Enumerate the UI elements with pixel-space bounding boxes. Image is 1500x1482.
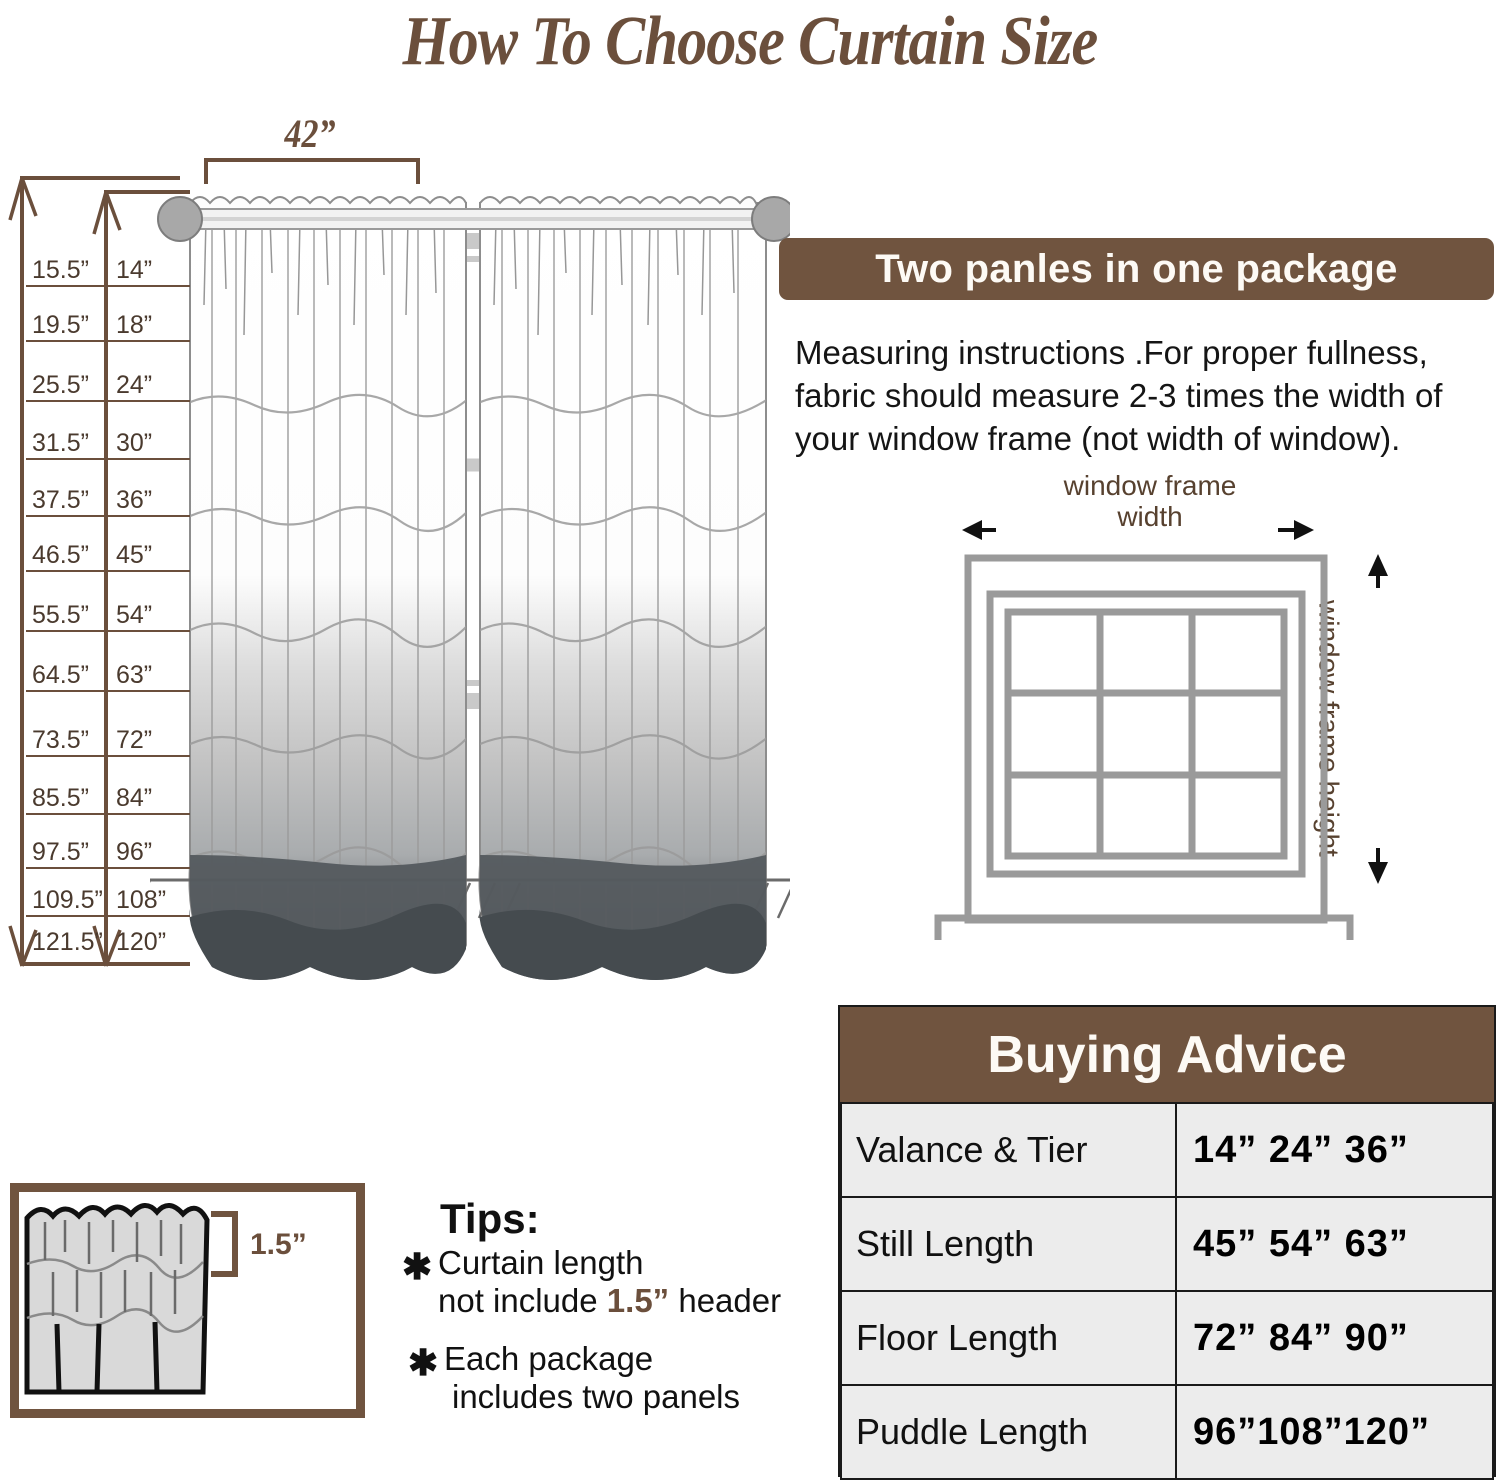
header-size-label: 1.5”: [250, 1228, 307, 1262]
width-dimension-bar: [204, 158, 420, 162]
measurement-with-header-0: 15.5”: [26, 240, 110, 287]
tip-1-line2-before: not include: [438, 1282, 607, 1319]
measurement-with-header-4: 37.5”: [26, 468, 110, 517]
asterisk-icon-2: ✱: [408, 1342, 438, 1383]
measurement-with-header-9: 85.5”: [26, 765, 110, 815]
rod-finial-left: [158, 197, 202, 241]
buying-advice-values-1: 45” 54” 63”: [1176, 1197, 1493, 1291]
measurement-with-header-6: 55.5”: [26, 580, 110, 632]
measurement-length-11: 108”: [110, 877, 190, 917]
measurement-with-header-5: 46.5”: [26, 525, 110, 572]
tip-1-line1: Curtain length: [438, 1244, 848, 1282]
buying-advice-panel: Buying Advice Valance & Tier14” 24” 36”S…: [838, 1005, 1496, 1477]
tip-item-2: ✱ Each package includes two panels: [444, 1340, 854, 1415]
page-title: How To Choose Curtain Size: [105, 2, 1395, 82]
tip-1-line2: not include 1.5” header: [438, 1282, 848, 1320]
table-row: Still Length45” 54” 63”: [841, 1197, 1493, 1291]
rod-finial-right: [752, 197, 790, 241]
measurement-length-3: 30”: [110, 410, 190, 460]
header-size-bracket: [211, 1214, 235, 1274]
measuring-instructions: Measuring instructions .For proper fulln…: [795, 332, 1500, 461]
curtain-illustration: [150, 165, 790, 995]
width-arrows: [962, 520, 1314, 540]
buying-advice-values-3: 96”108”120”: [1176, 1385, 1493, 1479]
measurement-length-4: 36”: [110, 468, 190, 517]
height-arrows: [1368, 554, 1388, 884]
asterisk-icon-1: ✱: [402, 1246, 432, 1287]
measurement-length-6: 54”: [110, 580, 190, 632]
tip-1-line2-after: header: [669, 1282, 781, 1319]
inner-dimension-arrow-up: [90, 190, 124, 236]
buying-advice-label-0: Valance & Tier: [841, 1103, 1176, 1197]
buying-advice-values-2: 72” 84” 90”: [1176, 1291, 1493, 1385]
measurement-with-header-10: 97.5”: [26, 823, 110, 869]
measurement-length-0: 14”: [110, 240, 190, 287]
curtain-width-label: 42”: [212, 110, 408, 157]
measurement-length-8: 72”: [110, 700, 190, 757]
buying-advice-table: Valance & Tier14” 24” 36”Still Length45”…: [840, 1102, 1494, 1480]
buying-advice-label-2: Floor Length: [841, 1291, 1176, 1385]
tip-2-line2: includes two panels: [444, 1378, 854, 1416]
table-row: Floor Length72” 84” 90”: [841, 1291, 1493, 1385]
buying-advice-label-3: Puddle Length: [841, 1385, 1176, 1479]
tip-1-highlight: 1.5”: [607, 1282, 669, 1319]
two-panels-banner: Two panles in one package: [779, 238, 1494, 300]
measurement-with-header-2: 25.5”: [26, 350, 110, 402]
measurement-length-2: 24”: [110, 350, 190, 402]
tip-item-1: ✱ Curtain length not include 1.5” header: [438, 1244, 848, 1319]
window-pane-group: [1008, 612, 1284, 856]
window-frame-diagram: [900, 460, 1500, 940]
curtain-puddle: [189, 855, 766, 980]
measurement-with-header-11: 109.5”: [26, 877, 110, 917]
measurement-with-header-7: 64.5”: [26, 640, 110, 692]
measurement-length-12: 120”: [110, 925, 190, 957]
window-inner-frame: [990, 594, 1302, 874]
measurement-with-header-1: 19.5”: [26, 295, 110, 342]
tip-2-line1: Each package: [444, 1340, 854, 1378]
outer-dimension-arrow-up: [6, 176, 40, 222]
measurement-length-1: 18”: [110, 295, 190, 342]
measurement-with-header-12: 121.5”: [26, 925, 110, 957]
measurement-with-header-8: 73.5”: [26, 700, 110, 757]
tips-title: Tips:: [440, 1195, 540, 1243]
window-sill-top: [938, 918, 1350, 940]
buying-advice-label-1: Still Length: [841, 1197, 1176, 1291]
measurement-with-header-3: 31.5”: [26, 410, 110, 460]
curtain-header-sketch: [19, 1192, 359, 1410]
table-row: Valance & Tier14” 24” 36”: [841, 1103, 1493, 1197]
measurement-length-10: 96”: [110, 823, 190, 869]
measurement-length-7: 63”: [110, 640, 190, 692]
buying-advice-values-0: 14” 24” 36”: [1176, 1103, 1493, 1197]
table-row: Puddle Length96”108”120”: [841, 1385, 1493, 1479]
measurement-length-5: 45”: [110, 525, 190, 572]
buying-advice-title: Buying Advice: [840, 1007, 1494, 1102]
measurement-length-9: 84”: [110, 765, 190, 815]
outer-dimension-axis: [20, 176, 24, 966]
